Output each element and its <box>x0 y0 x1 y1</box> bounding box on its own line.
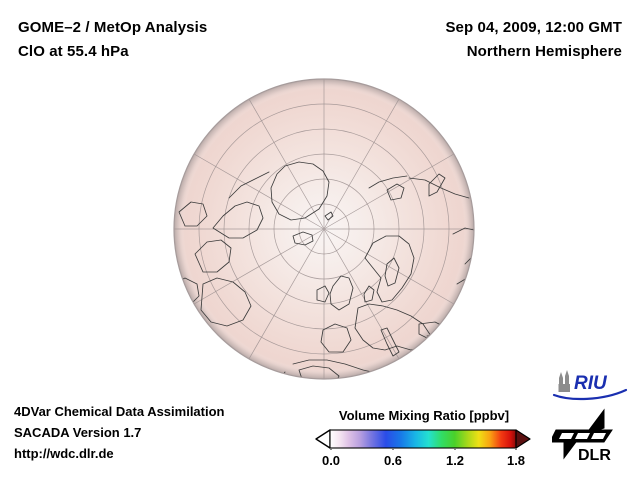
riu-wordmark: RIU <box>574 373 608 394</box>
colorbar-tick-2: 1.2 <box>446 453 464 468</box>
riu-tower-icon <box>559 370 571 392</box>
dlr-wordmark: DLR <box>578 447 611 464</box>
colorbar-row[interactable] <box>304 428 544 450</box>
colorbar-over-arrow <box>516 430 530 448</box>
map-panel <box>0 62 640 392</box>
method-label: 4DVar Chemical Data Assimilation <box>14 401 314 422</box>
page-subtitle-species-level: ClO at 55.4 hPa <box>18 40 318 64</box>
colorbar-tick-1: 0.6 <box>384 453 402 468</box>
hemisphere-label: Northern Hemisphere <box>322 40 622 64</box>
colorbar-tick-3: 1.8 <box>507 453 525 468</box>
colorbar-under-arrow <box>316 430 330 448</box>
colorbar-gradient-svg <box>304 428 544 450</box>
website-url[interactable]: http://wdc.dlr.de <box>14 443 314 464</box>
dlr-pinwheel-cutouts <box>559 433 606 439</box>
colorbar-block: Volume Mixing Ratio [ppbv] <box>304 408 544 470</box>
globe-svg <box>173 78 475 380</box>
header-left-block: GOME–2 / MetOp Analysis ClO at 55.4 hPa <box>18 16 318 64</box>
page-title: GOME–2 / MetOp Analysis <box>18 16 318 40</box>
colorbar-tick-0: 0.0 <box>322 453 340 468</box>
colorbar-title: Volume Mixing Ratio [ppbv] <box>304 408 544 423</box>
logo-block: RIU DLR <box>544 368 636 472</box>
colorbar-tick-labels: 0.0 0.6 1.2 1.8 <box>304 452 544 470</box>
timestamp-label: Sep 04, 2009, 12:00 GMT <box>322 16 622 40</box>
colorbar-bar <box>330 430 516 448</box>
dlr-logo[interactable]: DLR <box>552 408 628 466</box>
globe-orthographic-map[interactable] <box>173 78 475 380</box>
version-label: SACADA Version 1.7 <box>14 422 314 443</box>
header-right-block: Sep 04, 2009, 12:00 GMT Northern Hemisph… <box>322 16 622 64</box>
riu-logo[interactable]: RIU <box>550 368 630 402</box>
footer-credits-block: 4DVar Chemical Data Assimilation SACADA … <box>14 401 314 464</box>
